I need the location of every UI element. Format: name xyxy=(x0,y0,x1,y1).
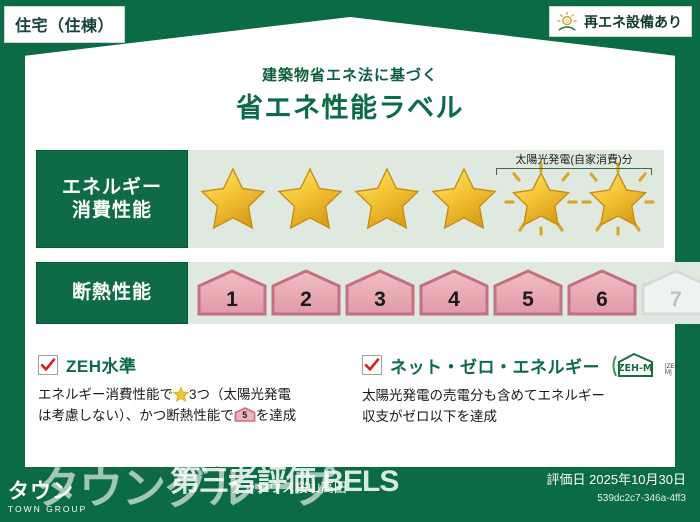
nze-desc-line1: 太陽光発電の売電分も含めてエネルギー xyxy=(362,388,605,403)
energy-row-label: エネルギー 消費性能 xyxy=(36,150,188,248)
zeh-desc-stars: 3つ（太陽光発電 xyxy=(189,387,291,402)
checkmark-icon xyxy=(38,355,58,375)
zeh-desc-part1: エネルギー消費性能で xyxy=(38,387,173,402)
zeh-title: ZEH水準 xyxy=(66,352,137,377)
star-rating-group xyxy=(196,162,655,236)
house-type-tag: 住宅（住棟） xyxy=(4,6,125,43)
insulation-row-label: 断熱性能 xyxy=(36,262,188,324)
insulation-level-group: 1 2 3 4 5 xyxy=(196,269,700,317)
nze-header: ネット・ゼロ・エネルギー ZEH-M [ZEH-M] xyxy=(362,352,672,378)
star-icon xyxy=(427,162,501,236)
insulation-level-number: 4 xyxy=(418,288,490,312)
insulation-level-chip: 2 xyxy=(270,269,342,317)
insulation-level-chip: 4 xyxy=(418,269,490,317)
insulation-performance-row: 断熱性能 1 2 3 4 xyxy=(36,262,664,324)
insulation-level-chip: 1 xyxy=(196,269,268,317)
insulation-level-number: 1 xyxy=(196,288,268,312)
zeh-standard-block: ZEH水準 エネルギー消費性能で3つ（太陽光発電 は考慮しない）、かつ断熱性能で… xyxy=(38,352,348,427)
nze-description: 太陽光発電の売電分も含めてエネルギー 収支がゼロ以下を達成 xyxy=(362,386,672,428)
evaluation-date: 評価日 2025年10月30日 xyxy=(547,469,686,488)
insulation-level-number: 5 xyxy=(492,288,564,312)
star-icon-solar xyxy=(581,162,655,236)
insulation-level-chip-inactive: 7 xyxy=(640,269,700,317)
renewable-equipment-badge: D 再エネ設備あり xyxy=(549,6,692,37)
insulation-level-chip: 3 xyxy=(344,269,416,317)
energy-performance-row: エネルギー 消費性能 xyxy=(36,150,664,248)
insulation-level-chip: 6 xyxy=(566,269,638,317)
watermark-brand-main: タウン xyxy=(8,481,87,503)
star-icon-inline xyxy=(173,386,189,402)
zeh-desc-part3: を達成 xyxy=(256,408,297,423)
insulation-rating-track: 1 2 3 4 5 xyxy=(188,262,700,324)
svg-text:D: D xyxy=(565,18,569,24)
energy-label-line2: 消費性能 xyxy=(72,199,152,222)
net-zero-energy-block: ネット・ゼロ・エネルギー ZEH-M [ZEH-M] 太陽光発電の売電分も含めて… xyxy=(362,352,672,428)
zeh-description: エネルギー消費性能で3つ（太陽光発電 は考慮しない）、かつ断熱性能で5を達成 xyxy=(38,385,348,427)
watermark-brand: タウン TOWN GROUP xyxy=(8,481,87,514)
house-icon-inline: 5 xyxy=(234,407,256,422)
zeh-m-logo-caption: [ZEH-M] xyxy=(665,364,681,378)
energy-rating-track: 太陽光発電(自家消費)分 xyxy=(188,150,664,248)
zeh-desc-part2: は考慮しない）、かつ断熱性能で xyxy=(38,408,234,423)
building-name: グラシウス桜山高田 xyxy=(230,477,347,496)
energy-label-line1: エネルギー xyxy=(62,176,162,199)
insulation-level-number: 6 xyxy=(566,288,638,312)
energy-performance-label: 住宅（住棟） D 再エネ設備あり 建築物省エネ法に基づく 省エネ性能ラベル xyxy=(0,0,700,522)
zeh-desc-house-level: 5 xyxy=(234,409,256,423)
star-icon xyxy=(273,162,347,236)
zeh-m-logo-icon: ZEH-M xyxy=(610,352,656,378)
insulation-level-number: 3 xyxy=(344,288,416,312)
renewable-badge-label: 再エネ設備あり xyxy=(584,12,682,32)
sun-solar-icon: D xyxy=(556,11,578,33)
zeh-header: ZEH水準 xyxy=(38,352,348,377)
insulation-level-chip: 5 xyxy=(492,269,564,317)
watermark-brand-sub: TOWN GROUP xyxy=(8,504,87,514)
star-icon xyxy=(196,162,270,236)
nze-title: ネット・ゼロ・エネルギー xyxy=(390,353,600,378)
svg-text:ZEH-M: ZEH-M xyxy=(618,363,653,374)
checkmark-icon xyxy=(362,355,382,375)
insulation-level-number: 7 xyxy=(640,288,700,312)
label-subtitle: 建築物省エネ法に基づく xyxy=(0,64,700,85)
page-title: 省エネ性能ラベル xyxy=(0,86,700,125)
nze-desc-line2: 収支がゼロ以下を達成 xyxy=(362,409,497,424)
insulation-level-number: 2 xyxy=(270,288,342,312)
insulation-label-text: 断熱性能 xyxy=(72,281,152,304)
star-icon-solar xyxy=(504,162,578,236)
evaluation-id: 539dc2c7-346a-4ff3 xyxy=(597,493,686,504)
star-icon xyxy=(350,162,424,236)
